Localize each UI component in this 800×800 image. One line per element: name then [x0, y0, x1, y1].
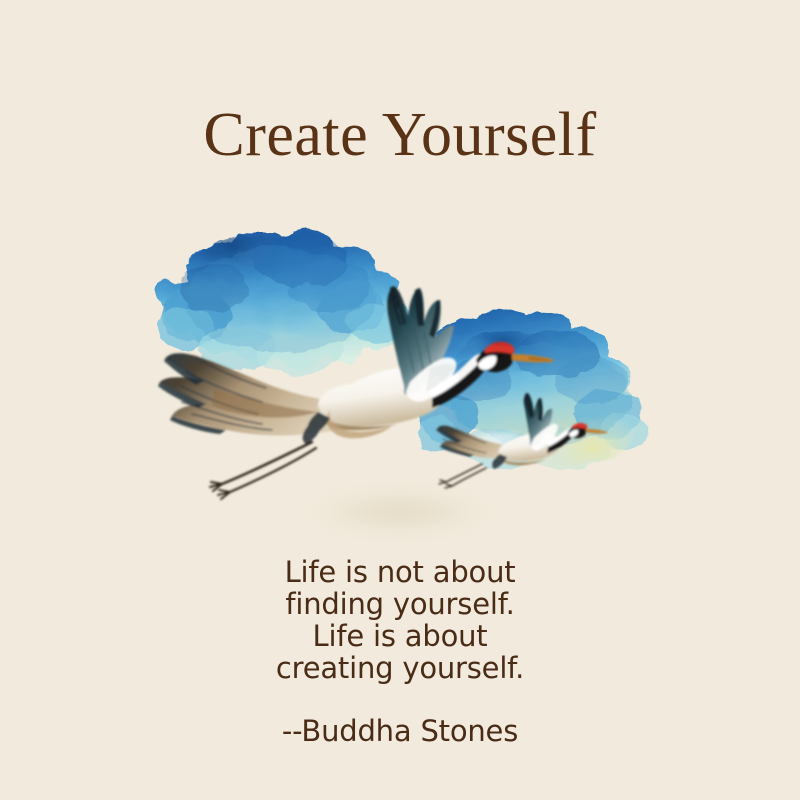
- quote-line-4: creating yourself.: [0, 652, 800, 684]
- illustration-watercolor-cranes: [0, 196, 800, 546]
- crane-large-legs: [210, 442, 316, 499]
- ground-shadow: [296, 493, 504, 531]
- quote-line-2: finding yourself.: [0, 588, 800, 620]
- quote-line-1: Life is not about: [0, 556, 800, 588]
- quote-line-3: Life is about: [0, 620, 800, 652]
- quote-attribution: --Buddha Stones: [0, 714, 800, 748]
- cloud-large-left: [156, 230, 407, 374]
- page-title: Create Yourself: [0, 104, 800, 166]
- poster-canvas: Create Yourself: [0, 0, 800, 800]
- quote-text: Life is not about finding yourself. Life…: [0, 556, 800, 684]
